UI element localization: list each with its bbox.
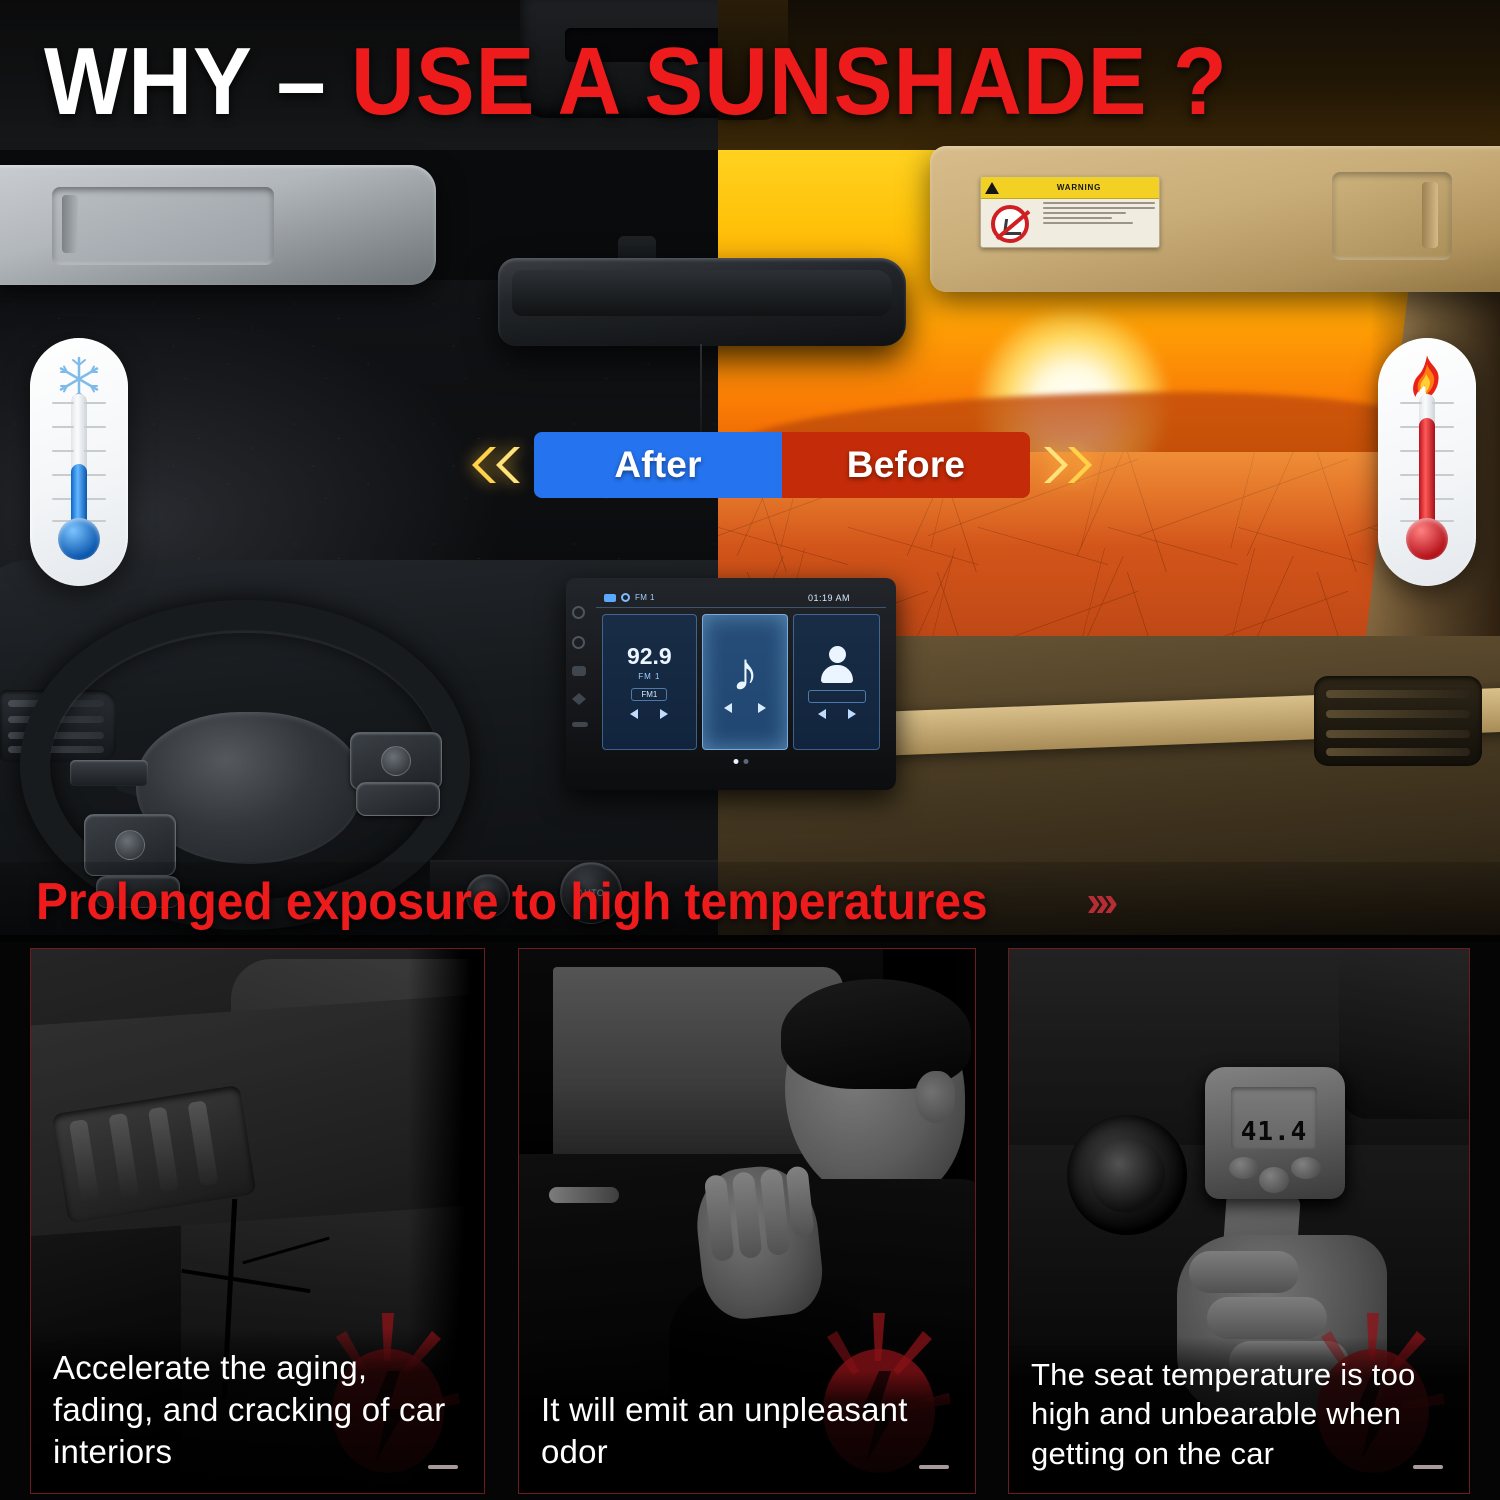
visor-ticket-pocket-right xyxy=(1332,172,1452,260)
warning-label-title: WARNING xyxy=(1003,184,1155,192)
person-icon xyxy=(820,646,854,684)
bluetooth-icon xyxy=(604,594,616,602)
profile-card[interactable] xyxy=(793,614,880,750)
ir-button-center[interactable] xyxy=(1259,1167,1289,1193)
before-after-hero: AUTO xyxy=(0,0,1500,935)
mirror-glass xyxy=(512,270,892,316)
aging-interior-tile[interactable]: Accelerate the aging, fading, and cracki… xyxy=(30,948,485,1494)
ir-button-right[interactable] xyxy=(1291,1157,1321,1179)
no-rear-facing-child-seat-icon xyxy=(991,205,1029,243)
warning-label-body xyxy=(981,199,1159,248)
infotainment-bezel: FM 1 01:19 AM 92.9 FM 1 FM1 xyxy=(566,578,896,790)
hot-seat-tile[interactable]: 41.4 The seat t xyxy=(1008,948,1470,1494)
ir-button-left[interactable] xyxy=(1229,1157,1259,1179)
side-air-vent-right xyxy=(1314,676,1482,766)
radio-band: FM 1 xyxy=(638,672,660,681)
radio-frequency: 92.9 xyxy=(627,645,672,668)
thermometer-bulb-hot xyxy=(1406,518,1448,560)
radio-transport xyxy=(630,709,668,719)
mid-banner: Prolonged exposure to high temperatures … xyxy=(0,862,1500,942)
warning-label-textlines xyxy=(1039,199,1159,248)
wiper-stalk xyxy=(70,760,148,786)
person-ear xyxy=(915,1071,955,1123)
power-key[interactable] xyxy=(572,606,585,619)
visor-pocket-tab-right xyxy=(1422,182,1438,248)
band-label: FM 1 xyxy=(635,593,655,602)
headrest xyxy=(1339,948,1470,1119)
title-red-part: USE A SUNSHADE ? xyxy=(351,34,1228,130)
person-hand xyxy=(691,1161,826,1323)
child-seat-glyph xyxy=(1003,219,1023,235)
after-badge[interactable]: After xyxy=(534,432,782,498)
infographic-canvas: AUTO xyxy=(0,0,1500,1500)
odor-tile[interactable]: It will emit an unpleasant odor xyxy=(518,948,976,1494)
infotainment-clock: 01:19 AM xyxy=(808,593,850,603)
page-dots xyxy=(734,759,749,764)
title-white-part: WHY – xyxy=(44,34,327,130)
eject-key[interactable] xyxy=(572,722,588,727)
page-title: WHY – USE A SUNSHADE ? xyxy=(0,24,1500,140)
dpad-left-icon xyxy=(115,830,145,860)
media-card[interactable]: ♪ xyxy=(702,614,789,750)
infotainment-hardkeys xyxy=(572,606,588,727)
menu-key[interactable] xyxy=(572,666,586,676)
infotainment-screen[interactable]: FM 1 01:19 AM 92.9 FM 1 FM1 xyxy=(596,588,886,768)
before-badge[interactable]: Before xyxy=(782,432,1030,498)
door-handle xyxy=(549,1187,619,1203)
thermometer-bulb-cold xyxy=(58,518,100,560)
profile-next-icon[interactable] xyxy=(848,709,856,719)
skip-next-icon[interactable] xyxy=(660,709,668,719)
before-after-toggle: After Before xyxy=(470,432,1094,498)
profile-progress xyxy=(808,690,866,703)
gps-icon xyxy=(621,593,630,602)
double-chevron-left-icon xyxy=(470,444,524,486)
skip-previous-icon[interactable] xyxy=(630,709,638,719)
thermometer-reading: 41.4 xyxy=(1241,1119,1308,1145)
profile-prev-icon[interactable] xyxy=(818,709,826,719)
steering-control-right-lower xyxy=(356,782,440,816)
warning-label-icon-cell xyxy=(981,199,1039,248)
media-skip-previous-icon[interactable] xyxy=(724,703,732,713)
infotainment-cards: 92.9 FM 1 FM1 ♪ xyxy=(602,614,880,750)
tile-caption: Accelerate the aging, fading, and cracki… xyxy=(31,1329,484,1493)
tile-caption: It will emit an unpleasant odor xyxy=(519,1371,975,1493)
home-key[interactable] xyxy=(572,636,585,649)
mid-banner-text: Prolonged exposure to high temperatures xyxy=(36,872,988,932)
double-chevron-right-icon xyxy=(1040,444,1094,486)
radio-card[interactable]: 92.9 FM 1 FM1 xyxy=(602,614,697,750)
visor-pocket-tab-left xyxy=(62,195,78,253)
airbag-warning-label: WARNING xyxy=(980,176,1160,248)
profile-transport xyxy=(818,709,856,719)
media-skip-next-icon[interactable] xyxy=(758,703,766,713)
chevron-right-triple-icon: ››› xyxy=(1086,877,1112,927)
ir-thermometer-display: 41.4 xyxy=(1231,1087,1317,1149)
warning-label-header: WARNING xyxy=(981,177,1159,199)
caption-underscore xyxy=(919,1465,949,1469)
ir-thermometer-body: 41.4 xyxy=(1205,1067,1345,1199)
visor-ticket-pocket-left xyxy=(52,187,274,265)
consequences-tiles: Accelerate the aging, fading, and cracki… xyxy=(0,948,1500,1500)
wrist-watch xyxy=(1067,1115,1187,1235)
sun-visor-left xyxy=(0,165,436,285)
radio-preset-chip[interactable]: FM1 xyxy=(631,688,667,701)
dpad-right-icon xyxy=(381,746,411,776)
media-transport xyxy=(724,703,766,713)
tile-caption: The seat temperature is too high and unb… xyxy=(1009,1337,1469,1493)
caption-underscore xyxy=(428,1465,458,1469)
infotainment-status-bar: FM 1 01:19 AM xyxy=(596,588,886,608)
rearview-mirror xyxy=(498,258,906,346)
airbag-warning-triangle-icon xyxy=(985,182,999,194)
cold-thermometer xyxy=(30,338,128,586)
hot-thermometer xyxy=(1378,338,1476,586)
caption-underscore xyxy=(1413,1465,1443,1469)
music-note-icon: ♪ xyxy=(732,651,759,694)
nav-key[interactable] xyxy=(572,693,586,705)
sun-visor-right: WARNING xyxy=(930,146,1500,292)
